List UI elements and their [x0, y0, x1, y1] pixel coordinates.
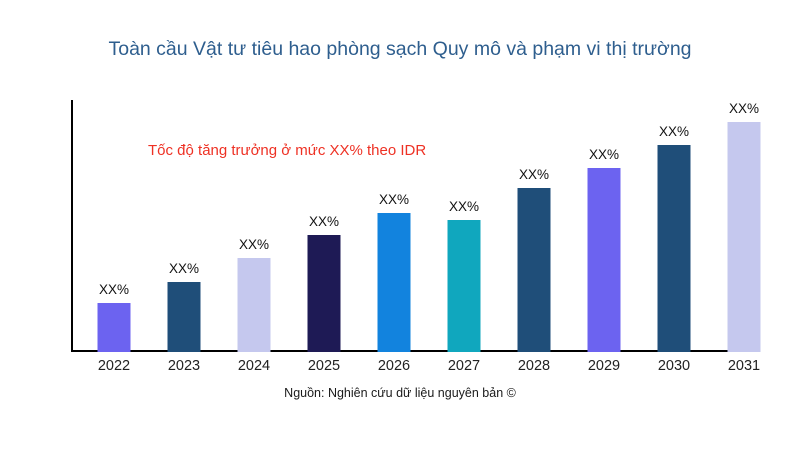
- bar[interactable]: [378, 213, 411, 352]
- y-axis-line: [71, 100, 73, 352]
- x-axis-tick-2028: 2028: [518, 358, 550, 374]
- bar-value-label: XX%: [449, 199, 479, 214]
- x-axis-tick-2023: 2023: [168, 358, 200, 374]
- x-axis-tick-2029: 2029: [588, 358, 620, 374]
- bar-group-2031: XX%2031: [709, 100, 779, 352]
- bar-group-2030: XX%2030: [639, 100, 709, 352]
- bar-value-label: XX%: [729, 101, 759, 116]
- plot-area: XX%2022XX%2023XX%2024XX%2025XX%2026XX%20…: [71, 100, 780, 352]
- bar-value-label: XX%: [659, 124, 689, 139]
- x-axis-tick-2022: 2022: [98, 358, 130, 374]
- bar-group-2029: XX%2029: [569, 100, 639, 352]
- bar[interactable]: [98, 303, 131, 352]
- bar-group-2024: XX%2024: [219, 100, 289, 352]
- x-axis-tick-2031: 2031: [728, 358, 760, 374]
- bar-value-label: XX%: [239, 237, 269, 252]
- bar[interactable]: [308, 235, 341, 352]
- bar[interactable]: [728, 122, 761, 352]
- bar[interactable]: [658, 145, 691, 352]
- x-axis-tick-2026: 2026: [378, 358, 410, 374]
- page-title: Toàn cầu Vật tư tiêu hao phòng sạch Quy …: [0, 38, 800, 61]
- bar-group-2023: XX%2023: [149, 100, 219, 352]
- bar-group-2028: XX%2028: [499, 100, 569, 352]
- bar-group-2025: XX%2025: [289, 100, 359, 352]
- bar-group-2027: XX%2027: [429, 100, 499, 352]
- x-axis-tick-2027: 2027: [448, 358, 480, 374]
- x-axis-tick-2025: 2025: [308, 358, 340, 374]
- bar-value-label: XX%: [309, 214, 339, 229]
- bar-chart-container: Toàn cầu Vật tư tiêu hao phòng sạch Quy …: [0, 0, 800, 450]
- bar[interactable]: [518, 188, 551, 352]
- bar[interactable]: [238, 258, 271, 352]
- bar-value-label: XX%: [589, 147, 619, 162]
- bar-value-label: XX%: [379, 192, 409, 207]
- bar[interactable]: [448, 220, 481, 352]
- bar-value-label: XX%: [519, 167, 549, 182]
- bar-group-2026: XX%2026: [359, 100, 429, 352]
- bar-value-label: XX%: [99, 282, 129, 297]
- bar-value-label: XX%: [169, 261, 199, 276]
- x-axis-tick-2030: 2030: [658, 358, 690, 374]
- bar[interactable]: [588, 168, 621, 352]
- x-axis-tick-2024: 2024: [238, 358, 270, 374]
- bar-group-2022: XX%2022: [79, 100, 149, 352]
- source-caption: Nguồn: Nghiên cứu dữ liệu nguyên bản ©: [0, 386, 800, 400]
- bar[interactable]: [168, 282, 201, 352]
